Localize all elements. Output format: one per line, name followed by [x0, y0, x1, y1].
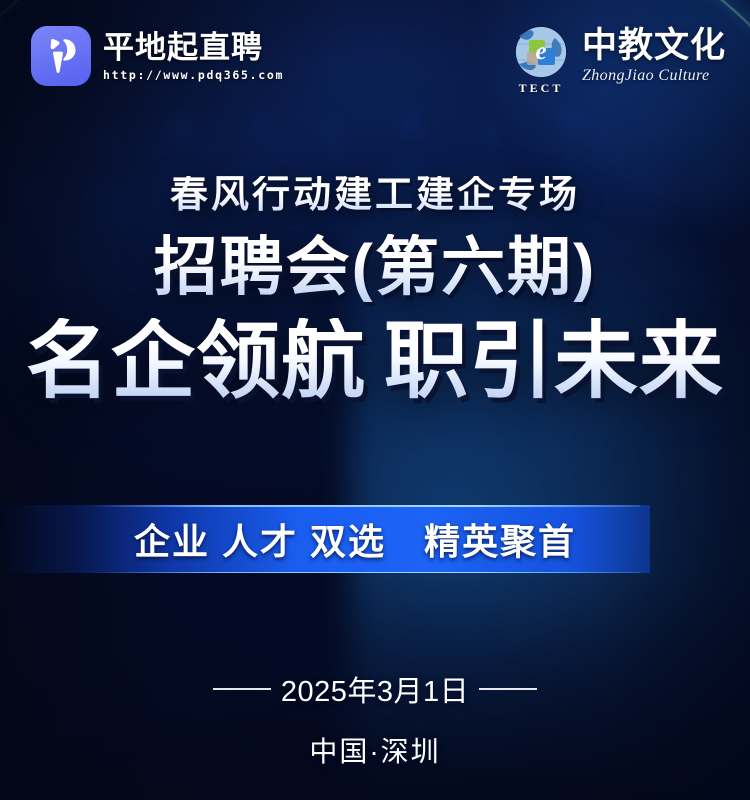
- dash-right-icon: [479, 688, 537, 690]
- hero-slogan-left: 名企领航: [26, 314, 366, 408]
- event-title: 招聘会(第六期): [0, 234, 750, 302]
- event-location: 中国·深圳: [0, 730, 750, 770]
- event-subtitle: 春风行动建工建企专场: [0, 176, 750, 216]
- event-date-row: 2025年3月1日: [0, 668, 750, 710]
- right-logo-abbr: TECT: [519, 81, 564, 96]
- svg-text:e: e: [535, 38, 546, 65]
- recruitment-poster: 平地起直聘 http://www.pdq365.com e: [0, 0, 750, 800]
- event-date: 2025年3月1日: [281, 668, 469, 710]
- slogan-band-text: 企业 人才 双选 精英聚首: [74, 513, 576, 565]
- event-slogan-hero: 名企领航职引未来: [0, 318, 750, 405]
- left-logo[interactable]: 平地起直聘 http://www.pdq365.com: [31, 26, 284, 86]
- dash-left-icon: [213, 688, 271, 690]
- right-logo-brand-cn: 中教文化: [582, 28, 726, 65]
- right-logo-brand-en: ZhongJiao Culture: [582, 67, 710, 85]
- globe-icon: e: [515, 26, 567, 78]
- right-logo-mark: e TECT: [510, 26, 572, 96]
- slogan-band: 企业 人才 双选 精英聚首: [0, 505, 650, 573]
- right-logo[interactable]: e TECT 中教文化 ZhongJiao Culture: [510, 26, 726, 96]
- left-logo-brand-cn: 平地起直聘: [103, 32, 284, 63]
- right-logo-text: 中教文化 ZhongJiao Culture: [582, 26, 726, 85]
- left-logo-text: 平地起直聘 http://www.pdq365.com: [103, 30, 284, 82]
- title-block: 春风行动建工建企专场 招聘会(第六期) 名企领航职引未来: [0, 176, 750, 405]
- footer-block: 2025年3月1日 中国·深圳: [0, 668, 750, 770]
- pdq-app-icon: [31, 26, 91, 86]
- hero-slogan-right: 职引未来: [384, 314, 724, 408]
- left-logo-url: http://www.pdq365.com: [103, 68, 284, 82]
